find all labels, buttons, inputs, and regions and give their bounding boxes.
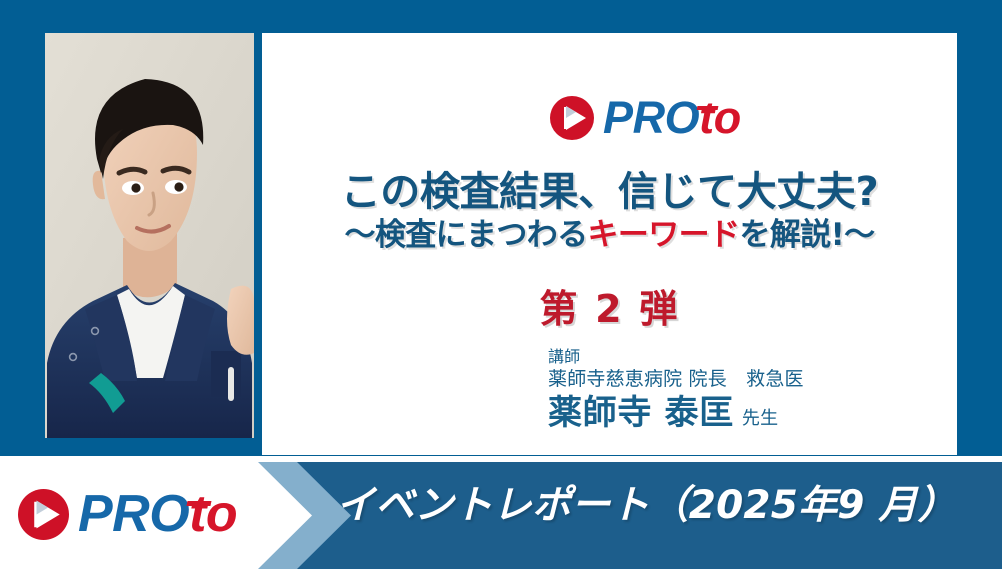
headline-line-2: 〜検査にまつわるキーワードを解説!〜 [262, 217, 957, 254]
proto-play-mark-icon [550, 96, 594, 140]
speaker-photo-illustration [45, 33, 254, 438]
headline-line-2-post: を解説!〜 [739, 217, 874, 253]
headline-line-1: この検査結果、信じて大丈夫? [262, 171, 957, 213]
lecturer-name-row: 薬師寺 泰匡 先生 [548, 395, 804, 432]
lecturer-name: 薬師寺 泰匡 [548, 395, 734, 432]
logo-text-pro: PRO [603, 92, 699, 143]
proto-play-mark-icon [18, 489, 69, 540]
lecturer-label: 講師 [548, 346, 804, 367]
proto-logo-footer: PROto [18, 488, 237, 545]
logo-text-to: to [699, 92, 741, 143]
content-card: PROto この検査結果、信じて大丈夫? 〜検査にまつわるキーワードを解説!〜 … [262, 33, 957, 455]
lecturer-affiliation: 薬師寺慈恵病院 院長 救急医 [548, 367, 804, 392]
headline-line-2-pre: 〜検査にまつわる [345, 217, 588, 253]
banner-title: イベントレポート（2025年9 月） [336, 485, 957, 528]
logo-text-pro: PRO [78, 485, 189, 543]
headline-keyword: キーワード [588, 217, 740, 253]
event-report-poster: PROto この検査結果、信じて大丈夫? 〜検査にまつわるキーワードを解説!〜 … [0, 0, 1002, 569]
logo-text-to: to [189, 485, 237, 543]
headline-block: この検査結果、信じて大丈夫? 〜検査にまつわるキーワードを解説!〜 [262, 171, 957, 255]
proto-logo-header: PROto [550, 95, 741, 145]
volume-badge: 第 2 弾 [262, 289, 957, 331]
speaker-photo [45, 33, 254, 438]
lecturer-name-suffix: 先生 [742, 410, 778, 428]
lecturer-info: 講師 薬師寺慈恵病院 院長 救急医 薬師寺 泰匡 先生 [548, 346, 804, 431]
